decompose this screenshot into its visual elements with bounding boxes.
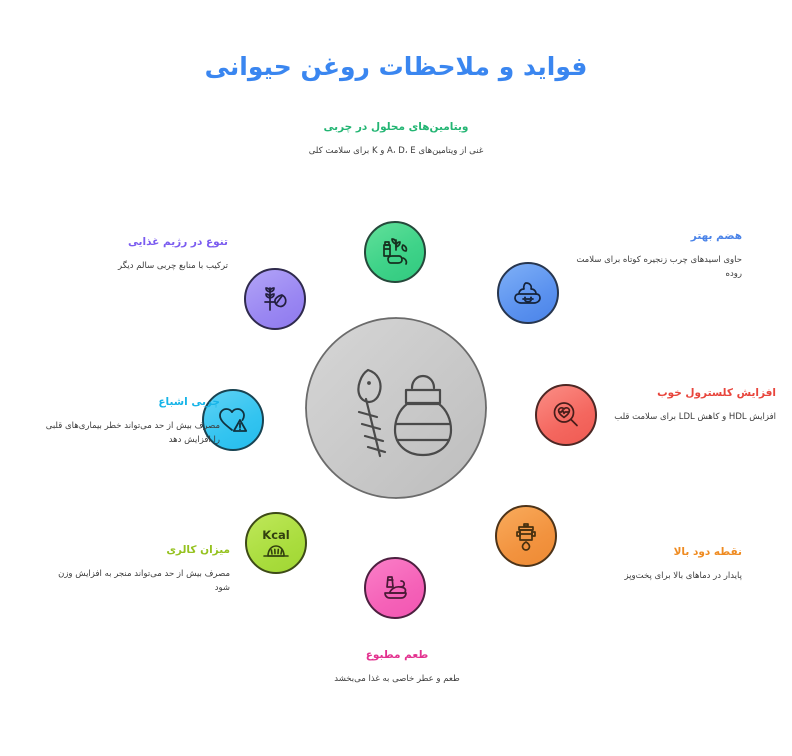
node-fat-soluble-vitamins[interactable]	[364, 221, 426, 283]
heading-diet-variety: تنوع در رژیم غذایی	[48, 235, 228, 250]
node-pleasant-taste[interactable]	[364, 557, 426, 619]
label-good-cholesterol: افزایش کلسترول خوب افزایش HDL و کاهش LDL…	[596, 386, 776, 424]
wheat-leaf-icon	[259, 283, 291, 315]
page-title: فواید و ملاحظات روغن حیوانی	[0, 52, 792, 81]
heading-high-smoke-point: نقطه دود بالا	[562, 545, 742, 560]
label-saturated-fat: چربی اشباع مصرف بیش از حد می‌تواند خطر ب…	[40, 395, 220, 447]
label-pleasant-taste: طعم مطبوع طعم و عطر خاصی به غذا می‌بخشد	[292, 648, 502, 686]
center-circle	[306, 318, 486, 498]
body-good-cholesterol: افزایش HDL و کاهش LDL برای سلامت قلب	[596, 410, 776, 424]
center-hub	[306, 318, 486, 498]
heading-fat-soluble-vitamins: ویتامین‌های محلول در چربی	[262, 120, 530, 135]
kcal-text: Kcal	[262, 528, 289, 542]
cooking-pot-flame-icon	[510, 520, 542, 552]
oil-bottle-plant-icon	[378, 235, 412, 269]
label-high-smoke-point: نقطه دود بالا پایدار در دماهای بالا برای…	[562, 545, 742, 583]
body-better-digestion: حاوی اسیدهای چرب زنجیره کوتاه برای سلامت…	[562, 253, 742, 281]
heading-good-cholesterol: افزایش کلسترول خوب	[596, 386, 776, 401]
roast-chicken-icon	[379, 572, 411, 604]
node-calorie-amount[interactable]: Kcal	[245, 512, 307, 574]
node-high-smoke-point[interactable]	[495, 505, 557, 567]
smiling-poop-icon	[512, 277, 544, 309]
label-diet-variety: تنوع در رژیم غذایی ترکیب با منابع چربی س…	[48, 235, 228, 273]
node-good-cholesterol[interactable]	[535, 384, 597, 446]
kcal-scale-icon: Kcal	[256, 526, 296, 560]
node-better-digestion[interactable]	[497, 262, 559, 324]
body-saturated-fat: مصرف بیش از حد می‌تواند خطر بیماری‌های ق…	[40, 419, 220, 447]
infographic-canvas: فواید و ملاحظات روغن حیوانی	[0, 0, 792, 756]
heading-calorie-amount: میزان کالری	[50, 543, 230, 558]
node-diet-variety[interactable]	[244, 268, 306, 330]
heart-magnifier-icon	[550, 399, 582, 431]
body-calorie-amount: مصرف بیش از حد می‌تواند منجر به افزایش و…	[50, 567, 230, 595]
heading-saturated-fat: چربی اشباع	[40, 395, 220, 410]
heading-better-digestion: هضم بهتر	[562, 229, 742, 244]
body-high-smoke-point: پایدار در دماهای بالا برای پخت‌وپز	[562, 569, 742, 583]
heading-pleasant-taste: طعم مطبوع	[292, 648, 502, 663]
body-fat-soluble-vitamins: غنی از ویتامین‌های A، D، E و K برای سلام…	[262, 144, 530, 158]
label-better-digestion: هضم بهتر حاوی اسیدهای چرب زنجیره کوتاه ب…	[562, 229, 742, 281]
heart-warning-icon	[216, 404, 250, 436]
body-diet-variety: ترکیب با منابع چربی سالم دیگر	[48, 259, 228, 273]
label-fat-soluble-vitamins: ویتامین‌های محلول در چربی غنی از ویتامین…	[262, 120, 530, 158]
body-pleasant-taste: طعم و عطر خاصی به غذا می‌بخشد	[292, 672, 502, 686]
label-calorie-amount: میزان کالری مصرف بیش از حد می‌تواند منجر…	[50, 543, 230, 595]
